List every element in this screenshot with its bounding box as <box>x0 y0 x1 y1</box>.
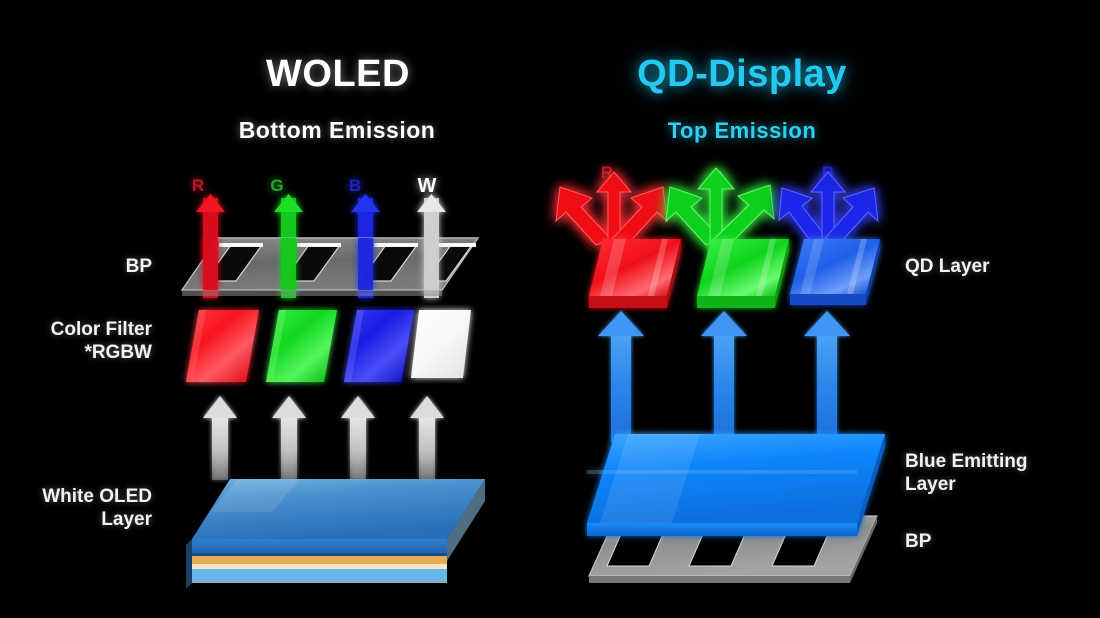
left-emission-arrows <box>196 194 446 298</box>
pump-arrow-4 <box>410 396 444 480</box>
qd-emission-arrows-blue <box>779 172 878 246</box>
channel-label-g-left: G <box>270 176 283 196</box>
label-color-filter: Color Filter *RGBW <box>51 318 152 364</box>
label-white-oled-layer: White OLED Layer <box>42 485 152 531</box>
channel-label-b-left: B <box>349 176 361 196</box>
emission-arrow-r <box>196 194 225 298</box>
color-filter-tile-red <box>186 310 259 382</box>
diagram-canvas: WOLED QD-Display Bottom Emission Top Emi… <box>0 0 1100 618</box>
label-bp-right: BP <box>905 530 931 553</box>
label-qd-layer: QD Layer <box>905 255 989 278</box>
channel-label-w-left: W <box>418 175 437 198</box>
pump-arrow-1 <box>203 396 237 480</box>
channel-label-r-left: R <box>192 176 204 196</box>
channel-label-b-right: B <box>822 163 834 183</box>
qd-tile-red <box>589 239 681 308</box>
emission-arrow-w <box>417 194 446 298</box>
blue-pump-arrow-3 <box>804 311 850 442</box>
left-panel-title: WOLED <box>266 53 410 96</box>
qd-tile-green <box>697 239 789 308</box>
color-filter-tile-white <box>411 310 471 378</box>
label-bp-left: BP <box>126 255 152 278</box>
channel-label-g-right: G <box>710 167 723 187</box>
pump-arrow-2 <box>272 396 306 480</box>
left-emission-arrows-upper <box>203 238 439 290</box>
left-bp-plate <box>182 238 478 296</box>
color-filter-tile-green <box>266 310 337 382</box>
qd-tiles <box>589 239 880 308</box>
color-filter-tile-blue <box>344 310 414 382</box>
blue-emitting-layer <box>587 434 885 536</box>
right-panel-title: QD-Display <box>637 53 847 96</box>
white-oled-stack <box>186 479 485 589</box>
right-panel-subtitle: Top Emission <box>668 118 817 144</box>
color-filter-tiles <box>186 310 471 382</box>
pump-arrow-3 <box>341 396 375 480</box>
blue-pump-arrow-1 <box>598 311 644 442</box>
left-pump-arrows <box>203 396 444 480</box>
emission-arrow-g <box>274 194 303 298</box>
right-bp-plate <box>589 516 877 583</box>
channel-label-r-right: R <box>601 163 613 183</box>
emission-arrow-b <box>351 194 380 298</box>
qd-emission-arrows-red <box>556 172 667 248</box>
label-blue-emitting-layer: Blue Emitting Layer <box>905 450 1027 496</box>
left-panel-subtitle: Bottom Emission <box>239 117 436 144</box>
right-pump-arrows <box>598 311 850 442</box>
blue-pump-arrow-2 <box>701 311 747 442</box>
diagram-artwork <box>0 0 1100 618</box>
qd-tile-blue <box>790 239 880 305</box>
